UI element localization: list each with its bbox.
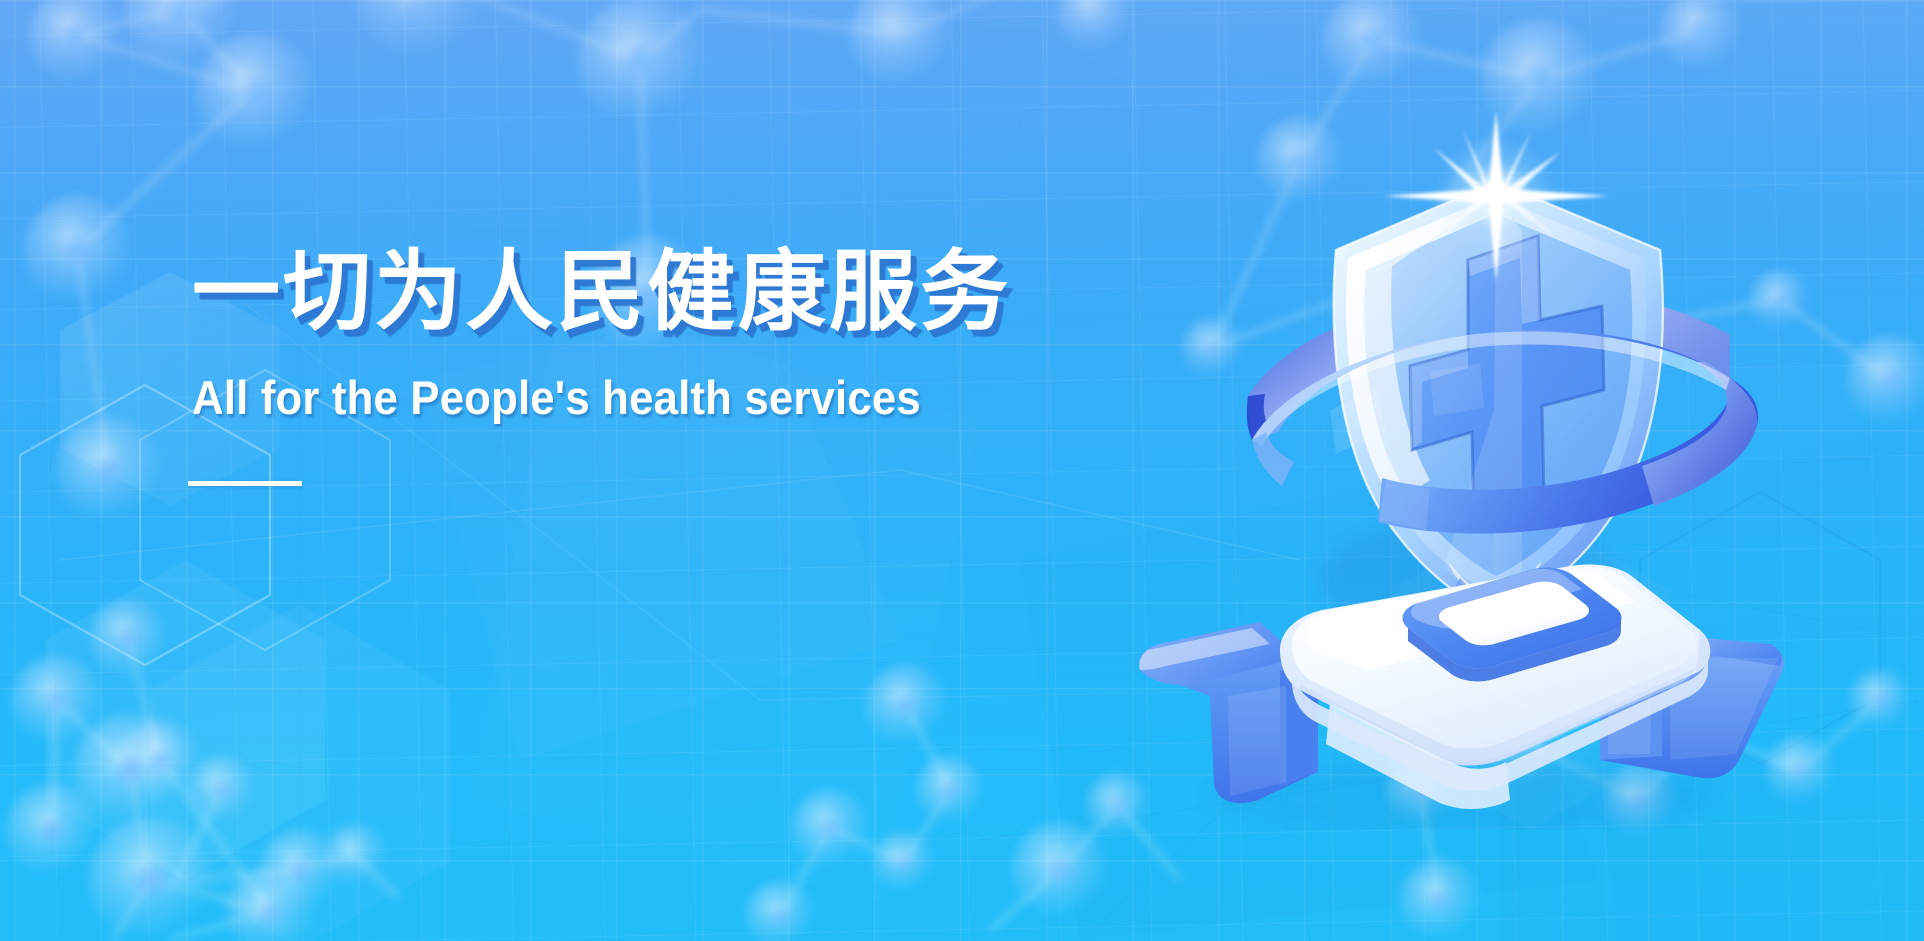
page-subtitle: All for the People's health services (192, 370, 1029, 425)
shield-artwork (1130, 110, 1790, 830)
health-banner: 一切为人民健康服务 All for the People's health se… (0, 0, 1924, 941)
banner-text-block: 一切为人民健康服务 All for the People's health se… (192, 248, 1092, 486)
pedestal (1139, 565, 1784, 831)
accent-divider (188, 481, 302, 486)
page-title: 一切为人民健康服务 (192, 248, 1092, 336)
